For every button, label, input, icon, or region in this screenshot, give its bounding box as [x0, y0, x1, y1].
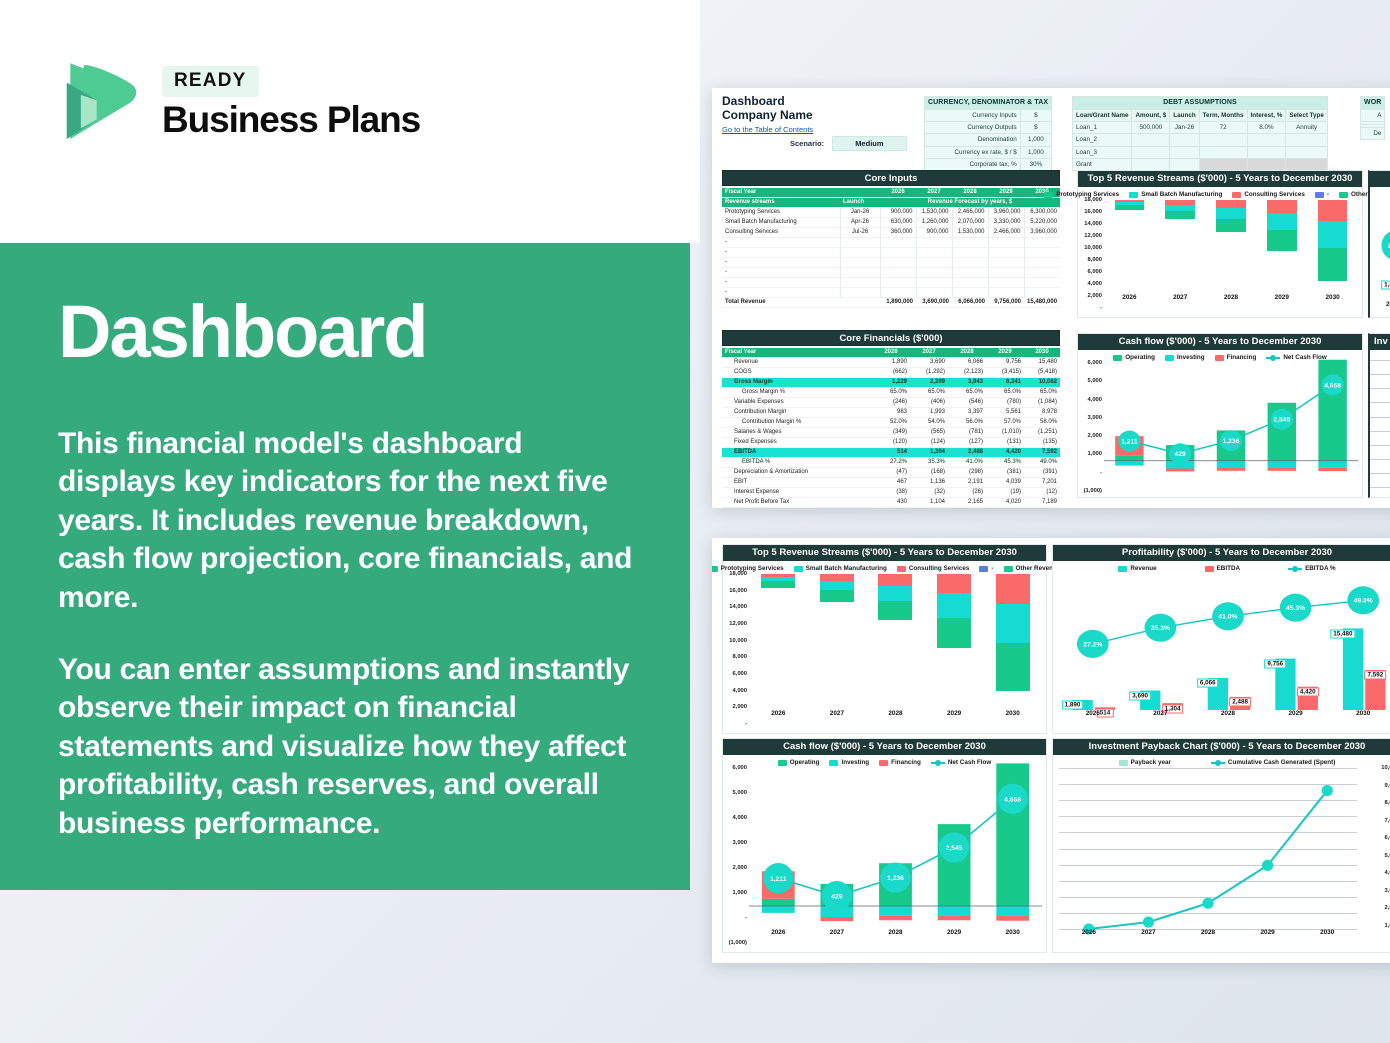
- x-tick: 2028: [866, 710, 925, 724]
- bar-segment: [1165, 205, 1194, 212]
- legend-label: Revenue: [1130, 565, 1156, 572]
- row-launch[interactable]: Jul-26: [840, 228, 880, 238]
- bar-segment: [1216, 208, 1245, 219]
- row-value[interactable]: 630,000: [880, 218, 916, 228]
- row-value: 3,397: [948, 408, 986, 418]
- row-label: Tax Expense: [722, 508, 872, 509]
- table-row[interactable]: Consulting ServicesJul-26360,000900,0001…: [722, 228, 1060, 238]
- bar-stack: [1115, 200, 1144, 294]
- row-value[interactable]: [880, 258, 916, 268]
- total-value: 3,690,000: [916, 298, 952, 308]
- bar-stack: [1318, 200, 1347, 294]
- scenario-label: Scenario:: [790, 139, 824, 148]
- row-value: 2,399: [910, 378, 948, 388]
- sliver-label-1890: 1,890: [1381, 281, 1390, 290]
- hero-paragraph-1: This financial model's dashboard display…: [58, 425, 634, 617]
- row-value[interactable]: [880, 278, 916, 288]
- data-label: 6,066: [1197, 679, 1219, 688]
- brand-badge: READY: [162, 66, 259, 97]
- row-value[interactable]: [952, 278, 988, 288]
- chart-legend: Prototyping ServicesSmall Batch Manufact…: [1078, 187, 1362, 200]
- bar-group: [925, 574, 984, 710]
- row-value[interactable]: 6,300,000: [1024, 208, 1060, 218]
- legend-item: Financing: [1215, 354, 1257, 361]
- row-value: 2,191: [948, 478, 986, 488]
- y-tick: 5,000: [1384, 853, 1390, 859]
- cell[interactable]: [1132, 146, 1170, 158]
- row-value: 1,104: [910, 498, 948, 508]
- legend-label: Cumulative Cash Generated (Spent): [1228, 759, 1335, 766]
- row-value[interactable]: [1024, 258, 1060, 268]
- y-tick: 8,000: [1384, 800, 1390, 806]
- cell[interactable]: [1286, 158, 1328, 170]
- row-value[interactable]: [880, 238, 916, 248]
- bar-segment: [996, 643, 1030, 691]
- cell[interactable]: [1170, 134, 1199, 146]
- row-value: 514: [872, 448, 910, 458]
- y-tick: 8,000: [1087, 257, 1102, 263]
- col-year: 2030: [1024, 348, 1060, 358]
- cell-value[interactable]: $: [1020, 110, 1051, 122]
- table-row: Grant: [1073, 158, 1328, 170]
- y-tick: 18,000: [1084, 197, 1102, 203]
- data-point: [1202, 898, 1213, 909]
- cell[interactable]: [1132, 158, 1170, 170]
- row-value: 9,756: [986, 358, 1024, 368]
- table-row[interactable]: -: [722, 278, 1060, 288]
- cell[interactable]: [1170, 158, 1199, 170]
- row-value: 27.2%: [872, 458, 910, 468]
- cell[interactable]: 8.0%: [1247, 122, 1286, 134]
- row-value[interactable]: [988, 248, 1024, 258]
- chart-sliver-investment[interactable]: Inv: [1368, 333, 1390, 498]
- y-tick: 14,000: [729, 604, 747, 610]
- legend-item: Cumulative Cash Generated (Spent): [1211, 759, 1335, 766]
- row-value: (565): [910, 428, 948, 438]
- x-tick: 2028: [866, 929, 925, 943]
- cell[interactable]: 72: [1199, 122, 1247, 134]
- cell: De: [1361, 128, 1385, 140]
- row-launch[interactable]: [840, 248, 880, 258]
- y-tick: 4,000: [732, 688, 747, 694]
- scenario-value[interactable]: Medium: [832, 136, 906, 151]
- legend-swatch: [794, 566, 803, 572]
- row-value[interactable]: [1024, 268, 1060, 278]
- cell[interactable]: [1199, 158, 1247, 170]
- legend-label: Net Cash Flow: [948, 759, 991, 766]
- legend-swatch: [829, 760, 838, 766]
- row-value[interactable]: 2,466,000: [988, 228, 1024, 238]
- row-value: 65.0%: [948, 388, 986, 398]
- legend-label: Consulting Services: [909, 565, 970, 572]
- legend-label: Payback year: [1131, 759, 1171, 766]
- x-tick: 2029: [925, 929, 984, 943]
- table-row: Currency ex rate, $ / $1,000: [925, 146, 1052, 158]
- bar-stack: [1165, 200, 1194, 294]
- table-row: COGS(662)(1,292)(2,123)(3,415)(5,418): [722, 368, 1060, 378]
- spacer: [840, 298, 880, 308]
- legend-swatch: [1004, 566, 1013, 572]
- table-row[interactable]: Prototyping ServicesJan-26900,0001,530,0…: [722, 208, 1060, 218]
- dashboard-sheet-top[interactable]: Dashboard Company Name Go to the Table o…: [712, 88, 1390, 508]
- x-tick: 2029: [1256, 294, 1307, 308]
- table-row: Fixed Expenses(120)(124)(127)(131)(135): [722, 438, 1060, 448]
- scenario-selector[interactable]: Scenario: Medium: [790, 136, 907, 151]
- row-value: (1,292): [910, 368, 948, 378]
- y-axis: 6,0005,0004,0003,0002,0001,000-(1,000): [723, 768, 749, 943]
- y-tick: 2,000: [732, 704, 747, 710]
- row-value: (349): [872, 428, 910, 438]
- legend-item: Investing: [1165, 354, 1205, 361]
- col-fiscal-year: Fiscal Year: [722, 348, 872, 358]
- row-value[interactable]: [988, 288, 1024, 298]
- chart-investment-payback[interactable]: Investment Payback Chart ($'000) - 5 Yea…: [1052, 738, 1390, 953]
- row-value[interactable]: [988, 278, 1024, 288]
- data-point: [1262, 860, 1273, 871]
- row-value[interactable]: 3,960,000: [988, 208, 1024, 218]
- hero-paragraph-2: You can enter assumptions and instantly …: [58, 651, 634, 843]
- row-value: (19): [986, 488, 1024, 498]
- legend-label: EBITDA %: [1305, 565, 1336, 572]
- col-fiscal-year: Fiscal Year: [722, 188, 840, 198]
- cell-value[interactable]: 1,000: [1020, 134, 1051, 146]
- table-row: A: [1361, 110, 1385, 122]
- row-value[interactable]: 1,530,000: [952, 228, 988, 238]
- row-value: (331): [910, 508, 948, 509]
- data-label: 1,236: [887, 875, 904, 882]
- brand-name: Business Plans: [162, 101, 420, 138]
- row-value[interactable]: [880, 268, 916, 278]
- row-value: 7,189: [1024, 498, 1060, 508]
- row-label: Contribution Margin %: [722, 418, 872, 428]
- row-value: (3,415): [986, 368, 1024, 378]
- bar-series: [749, 574, 1042, 710]
- table-row[interactable]: -: [722, 238, 1060, 248]
- row-value[interactable]: [952, 288, 988, 298]
- y-tick: 6,000: [1087, 269, 1102, 275]
- y-tick: 5,000: [1087, 378, 1102, 384]
- row-label: -: [722, 278, 840, 288]
- x-axis: 20262027202820292030: [749, 710, 1042, 724]
- legend-swatch: [979, 566, 988, 572]
- sheet-title: Dashboard: [722, 94, 813, 108]
- table-total-row: Total Revenue1,890,0003,690,0006,066,000…: [722, 298, 1060, 308]
- table-row[interactable]: -: [722, 248, 1060, 258]
- bar-segment: [1267, 230, 1296, 251]
- cell[interactable]: [1199, 134, 1247, 146]
- bar-segment: [1216, 200, 1245, 208]
- row-launch[interactable]: [840, 268, 880, 278]
- row-value: 4,039: [986, 478, 1024, 488]
- row-value: 54.0%: [910, 418, 948, 428]
- bar-segment: [1267, 200, 1296, 213]
- table-row: Currency Outputs$: [925, 122, 1052, 134]
- row-value[interactable]: [988, 238, 1024, 248]
- table-row: EBITDA %27.2%35.3%41.0%45.3%49.0%: [722, 458, 1060, 468]
- row-value: 10,062: [1024, 378, 1060, 388]
- legend-swatch: [1113, 355, 1122, 361]
- cell[interactable]: [1132, 134, 1170, 146]
- row-value[interactable]: 3,330,000: [988, 218, 1024, 228]
- cell-value[interactable]: $: [1020, 122, 1051, 134]
- row-value: 56.0%: [948, 418, 986, 428]
- bar-segment: [1165, 211, 1194, 219]
- y-tick: 1,000: [1384, 923, 1390, 929]
- row-value[interactable]: [1024, 248, 1060, 258]
- bar-segment: [820, 574, 854, 581]
- cell[interactable]: Grant: [1073, 158, 1132, 170]
- data-label: 49.0%: [1354, 598, 1373, 605]
- row-value[interactable]: 1,260,000: [916, 218, 952, 228]
- y-tick: 10,000: [1381, 765, 1390, 771]
- core-financials-table[interactable]: Fiscal Year20262027202820292030Revenue1,…: [722, 348, 1060, 508]
- legend-swatch: [1266, 357, 1280, 359]
- cell[interactable]: [1247, 158, 1286, 170]
- x-tick: 2026: [1059, 710, 1127, 724]
- row-value: 52.0%: [872, 418, 910, 428]
- table-row[interactable]: -: [722, 268, 1060, 278]
- row-value[interactable]: [880, 288, 916, 298]
- row-launch[interactable]: Apr-26: [840, 218, 880, 228]
- row-value: (129): [872, 508, 910, 509]
- row-label: Gross Margin: [722, 378, 872, 388]
- data-label: 2,545: [946, 845, 963, 852]
- legend-label: Investing: [841, 759, 869, 766]
- row-value[interactable]: [916, 278, 952, 288]
- cell-label: Currency ex rate, $ / $: [925, 146, 1021, 158]
- cell[interactable]: Loan_1: [1073, 122, 1132, 134]
- row-value[interactable]: [952, 268, 988, 278]
- x-tick: 2029: [1262, 710, 1330, 724]
- legend-swatch: [1339, 192, 1348, 198]
- profitability-plot: 27.2%35.3%41.0%45.3%49.0%: [1059, 574, 1390, 710]
- bar-segment: [1216, 219, 1245, 232]
- legend-label: -: [1327, 191, 1329, 198]
- cell[interactable]: Jan-26: [1170, 122, 1199, 134]
- legend-swatch: [1118, 566, 1127, 572]
- bar-segment: [937, 593, 971, 618]
- play-triangle-logo-icon: [58, 58, 146, 146]
- row-value: 2,165: [948, 498, 986, 508]
- table-subheader-row: Revenue streamsLaunchRevenue Forecast by…: [722, 198, 1060, 208]
- row-value[interactable]: 1,530,000: [916, 208, 952, 218]
- row-value[interactable]: [916, 258, 952, 268]
- col-launch: Launch: [840, 198, 880, 208]
- row-value: 35.3%: [910, 458, 948, 468]
- chart-sliver-profitability[interactable]: 27.2% 1,890 2026: [1368, 170, 1390, 318]
- x-axis: 20262027202820292030: [749, 929, 1042, 943]
- x-tick: 2030: [1329, 710, 1390, 724]
- y-tick: (1,000): [729, 940, 747, 946]
- row-value: 65.0%: [986, 388, 1024, 398]
- legend-swatch: [1119, 760, 1128, 766]
- row-launch[interactable]: [840, 288, 880, 298]
- row-value: (135): [1024, 438, 1060, 448]
- cell[interactable]: [1170, 146, 1199, 158]
- row-value[interactable]: 3,960,000: [1024, 228, 1060, 238]
- y-tick: 10,000: [729, 638, 747, 644]
- row-value[interactable]: 2,466,000: [952, 208, 988, 218]
- row-value: (1,010): [986, 428, 1024, 438]
- legend-item: Net Cash Flow: [931, 759, 991, 766]
- column-header: Loan/Grant Name: [1073, 110, 1132, 122]
- chart-legend: RevenueEBITDAEBITDA %: [1053, 561, 1390, 574]
- legend-item: Small Batch Manufacturing: [1129, 191, 1222, 198]
- bar-segment: [1318, 221, 1347, 248]
- cell[interactable]: Loan_2: [1073, 134, 1132, 146]
- row-value[interactable]: 2,070,000: [952, 218, 988, 228]
- chart-revenue-streams-bottom[interactable]: Top 5 Revenue Streams ($'000) - 5 Years …: [722, 544, 1047, 734]
- table-row[interactable]: Small Batch ManufacturingApr-26630,0001,…: [722, 218, 1060, 228]
- cell[interactable]: 500,000: [1132, 122, 1170, 134]
- legend-swatch: [879, 760, 888, 766]
- row-value[interactable]: [1024, 278, 1060, 288]
- legend-swatch: [931, 762, 945, 764]
- row-value: 1,304: [910, 448, 948, 458]
- bar-group: [1206, 200, 1257, 294]
- legend-item: Prototyping Services: [1044, 191, 1119, 198]
- legend-label: Financing: [891, 759, 921, 766]
- cell: A: [1361, 110, 1385, 122]
- cell[interactable]: Annuity: [1286, 122, 1328, 134]
- chart-profitability[interactable]: Profitability ($'000) - 5 Years to Decem…: [1052, 544, 1390, 734]
- legend-item: -: [1315, 191, 1329, 198]
- row-value: 45.3%: [986, 458, 1024, 468]
- cell[interactable]: [1247, 146, 1286, 158]
- row-value[interactable]: [916, 288, 952, 298]
- col-year: 2029: [988, 188, 1024, 198]
- row-value[interactable]: [916, 238, 952, 248]
- working-capital-caption: WOR: [1361, 97, 1385, 110]
- y-tick: 4,000: [1087, 397, 1102, 403]
- y-tick: -: [745, 915, 747, 921]
- cell[interactable]: [1199, 146, 1247, 158]
- table-row: Loan_3: [1073, 146, 1328, 158]
- dashboard-sheet-bottom[interactable]: Top 5 Revenue Streams ($'000) - 5 Years …: [712, 538, 1390, 963]
- data-label: 3,690: [1129, 691, 1151, 700]
- row-label: Small Batch Manufacturing: [722, 218, 840, 228]
- chart-revenue-streams-top[interactable]: Top 5 Revenue Streams ($'000) - 5 Years …: [1077, 170, 1363, 318]
- row-launch[interactable]: Jan-26: [840, 208, 880, 218]
- row-value[interactable]: 900,000: [916, 228, 952, 238]
- y-tick: -: [745, 721, 747, 727]
- row-value[interactable]: [1024, 288, 1060, 298]
- chart-title: Investment Payback Chart ($'000) - 5 Yea…: [1053, 739, 1390, 755]
- y-tick: 6,000: [732, 765, 747, 771]
- bar-stack: [996, 574, 1030, 710]
- chart-cash-flow-top[interactable]: Cash flow ($'000) - 5 Years to December …: [1077, 333, 1363, 498]
- core-inputs-table[interactable]: Fiscal Year20262027202820292030Revenue s…: [722, 188, 1060, 308]
- row-value[interactable]: 5,220,000: [1024, 218, 1060, 228]
- bar-group: [808, 574, 867, 710]
- row-value[interactable]: 360,000: [880, 228, 916, 238]
- row-value[interactable]: [1024, 238, 1060, 248]
- table-row[interactable]: -: [722, 258, 1060, 268]
- table-header-row: Fiscal Year20262027202820292030: [722, 348, 1060, 358]
- bar-segment: [1115, 205, 1144, 210]
- chart-legend: Payback yearCumulative Cash Generated (S…: [1053, 755, 1390, 768]
- table-row: De: [1361, 128, 1385, 140]
- data-point: [1143, 917, 1154, 928]
- cell[interactable]: [1286, 146, 1328, 158]
- col-year: 2027: [916, 188, 952, 198]
- y-tick: 2,000: [732, 865, 747, 871]
- bar-stack: [1267, 200, 1296, 294]
- row-launch[interactable]: [840, 278, 880, 288]
- bar-group: [1256, 200, 1307, 294]
- cell[interactable]: [1286, 134, 1328, 146]
- cell-value[interactable]: 1,000: [1020, 146, 1051, 158]
- row-value[interactable]: 900,000: [880, 208, 916, 218]
- row-value: 983: [872, 408, 910, 418]
- y-tick: 3,000: [732, 840, 747, 846]
- row-value: 2,488: [948, 448, 986, 458]
- bar-segment: [761, 581, 795, 588]
- data-label: 1,890: [1062, 701, 1084, 710]
- col-year: 2026: [880, 188, 916, 198]
- x-tick: 2028: [1194, 710, 1262, 724]
- cell-value[interactable]: 30%: [1020, 158, 1051, 170]
- bar-segment: [878, 601, 912, 620]
- row-value[interactable]: [988, 258, 1024, 268]
- legend-label: -: [991, 565, 993, 572]
- row-value: 1,229: [872, 378, 910, 388]
- row-value[interactable]: [952, 238, 988, 248]
- table-row: Interest Expense(38)(32)(26)(19)(12): [722, 488, 1060, 498]
- row-value: (391): [1024, 468, 1060, 478]
- bar-segment: [937, 618, 971, 648]
- x-tick: 2028: [1178, 929, 1238, 943]
- chart-title: Profitability ($'000) - 5 Years to Decem…: [1053, 545, 1390, 561]
- total-value: 9,756,000: [988, 298, 1024, 308]
- row-value[interactable]: [952, 248, 988, 258]
- x-tick: 2029: [1238, 929, 1298, 943]
- row-value: (780): [986, 398, 1024, 408]
- row-value[interactable]: [988, 268, 1024, 278]
- chart-cash-flow-bottom[interactable]: Cash flow ($'000) - 5 Years to December …: [722, 738, 1047, 953]
- row-value: (124): [910, 438, 948, 448]
- legend-label: Small Batch Manufacturing: [806, 565, 887, 572]
- cell[interactable]: [1247, 134, 1286, 146]
- brand-logo: READY Business Plans: [58, 58, 420, 146]
- bar-series: [1104, 200, 1358, 294]
- row-launch[interactable]: [840, 238, 880, 248]
- row-value[interactable]: [880, 248, 916, 258]
- row-value[interactable]: [952, 258, 988, 268]
- cell[interactable]: Loan_3: [1073, 146, 1132, 158]
- table-row: Gross Margin1,2292,3993,9436,34110,062: [722, 378, 1060, 388]
- table-row[interactable]: -: [722, 288, 1060, 298]
- y-tick: 5,000: [732, 790, 747, 796]
- bar-stack: [878, 574, 912, 710]
- row-value[interactable]: [916, 248, 952, 258]
- row-value: 4,020: [986, 498, 1024, 508]
- row-label: EBIT: [722, 478, 872, 488]
- bar-group: [1104, 200, 1155, 294]
- row-value: (47): [872, 468, 910, 478]
- y-tick: 2,000: [1087, 293, 1102, 299]
- row-value: 1,993: [910, 408, 948, 418]
- y-tick: 4,000: [1384, 870, 1390, 876]
- bar-group: [1307, 200, 1358, 294]
- row-value[interactable]: [916, 268, 952, 278]
- row-launch[interactable]: [840, 258, 880, 268]
- data-label: 7,592: [1364, 671, 1386, 680]
- table-of-contents-link[interactable]: Go to the Table of Contents: [722, 125, 813, 134]
- x-tick: 2027: [1127, 710, 1195, 724]
- row-label: COGS: [722, 368, 872, 378]
- column-header: Launch: [1170, 110, 1199, 122]
